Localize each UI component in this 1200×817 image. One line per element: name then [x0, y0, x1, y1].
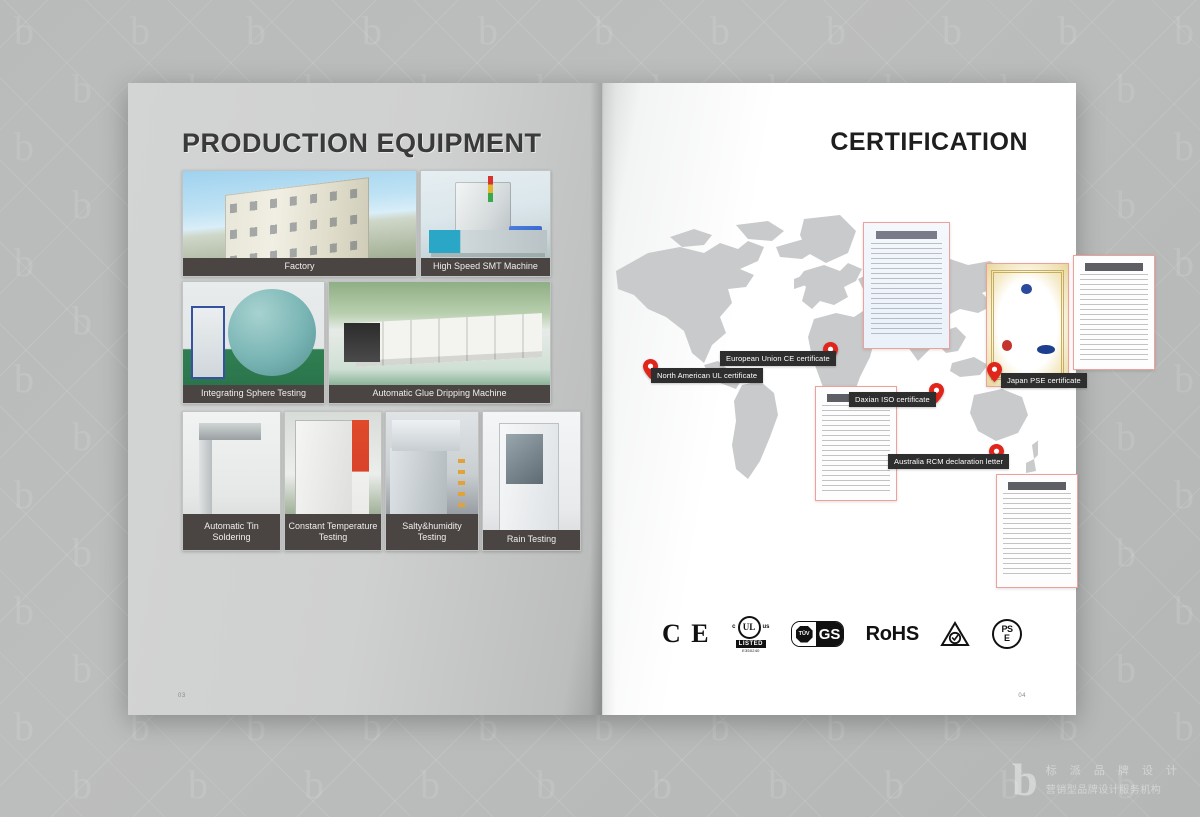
page-number-left: 03 [178, 693, 186, 699]
photo-factory: Factory [182, 170, 417, 277]
photo-tin-soldering: Automatic Tin Soldering [182, 411, 281, 551]
cert-doc-rcm-heading [1008, 482, 1066, 490]
photo-rain-testing-caption: Rain Testing [483, 530, 580, 550]
photo-rain-testing: Rain Testing [482, 411, 581, 551]
pin-japan-pse[interactable] [987, 362, 1002, 382]
photo-constant-temperature-caption: Constant Temperature Testing [285, 514, 381, 550]
rcm-mark-icon [940, 621, 970, 647]
cert-doc-ce-body-lines [871, 243, 942, 338]
salty-humidity-knobs [458, 459, 465, 517]
cert-doc-rcm-body-lines [1003, 493, 1070, 578]
photo-glue-dripping: Automatic Glue Dripping Machine [328, 281, 551, 404]
gs-cell: GS [816, 622, 843, 646]
watermark-line-1: 标 派 品 牌 设 计 [1046, 762, 1182, 778]
tuv-octagon: TÜV [796, 626, 813, 643]
watermark-line-2: 营销型品牌设计服务机构 [1046, 781, 1182, 796]
cert-doc-ul-body-lines [822, 405, 889, 491]
photo-tin-soldering-caption: Automatic Tin Soldering [183, 514, 280, 550]
ul-mark-left-letter: c [732, 624, 735, 630]
cert-doc-ce-heading [876, 231, 937, 240]
pin-label-daxian-iso: Daxian ISO certificate [849, 392, 936, 407]
brochure-spread: PRODUCTION EQUIPMENT Factory High Speed … [128, 83, 1076, 715]
pin-label-australia-rcm: Australia RCM declaration letter [888, 454, 1009, 469]
photo-factory-caption: Factory [183, 258, 416, 276]
cert-doc-pse [1073, 255, 1155, 370]
tuv-cell: TÜV [792, 622, 816, 646]
cert-doc-pse-heading [1085, 263, 1143, 271]
tuv-gs-mark-icon: TÜV GS [791, 621, 844, 647]
photo-glue-dripping-caption: Automatic Glue Dripping Machine [329, 385, 550, 403]
smt-blue-tray [509, 226, 543, 241]
cert-doc-pse-body-lines [1080, 274, 1147, 360]
ul-mark-listed-band: LISTED [736, 640, 766, 648]
photo-integrating-sphere: Integrating Sphere Testing [182, 281, 325, 404]
watermark-text-block: 标 派 品 牌 设 计 营销型品牌设计服务机构 [1046, 762, 1182, 796]
page-title-production-equipment: PRODUCTION EQUIPMENT [182, 128, 542, 159]
page-number-right: 04 [1018, 693, 1026, 699]
watermark: b 标 派 品 牌 设 计 营销型品牌设计服务机构 [1012, 760, 1182, 799]
photo-smt: High Speed SMT Machine [420, 170, 551, 277]
ul-mark-right-letter: us [763, 624, 770, 630]
cert-doc-rcm [996, 474, 1078, 588]
smt-signal-tower [488, 176, 493, 202]
pin-label-japan-pse: Japan PSE certificate [1001, 373, 1087, 388]
backdrop: b b PRODUCTION EQUIPMENT Factory High Sp… [0, 0, 1200, 817]
ul-mark-icon: c UL us LISTED E350240 [732, 616, 769, 653]
page-title-certification: CERTIFICATION [830, 128, 1028, 157]
pin-label-north-american-ul: North American UL certificate [651, 368, 763, 383]
iso-seal-red [1002, 340, 1013, 351]
ce-mark-icon: C E [662, 619, 711, 649]
photo-smt-caption: High Speed SMT Machine [421, 258, 550, 276]
rohs-mark-icon: RoHS [866, 623, 919, 646]
iso-seal-cnas [1037, 345, 1055, 355]
cert-doc-ce [863, 222, 950, 349]
world-map [608, 213, 1038, 553]
certification-logo-row: C E c UL us LISTED E350240 [662, 611, 1022, 657]
ul-mark-file-number: E350240 [742, 649, 759, 653]
photo-salty-humidity-caption: Salty&humidity Testing [386, 514, 478, 550]
pin-label-european-union-ce: European Union CE certificate [720, 351, 836, 366]
pse-mark-bottom: E [1004, 634, 1010, 643]
left-page: PRODUCTION EQUIPMENT Factory High Speed … [128, 83, 602, 715]
watermark-logo-mark: b [1012, 760, 1038, 799]
photo-integrating-sphere-caption: Integrating Sphere Testing [183, 385, 324, 403]
ul-mark-circle: UL [738, 616, 761, 639]
iso-seal-blue [1021, 284, 1032, 295]
photo-constant-temperature: Constant Temperature Testing [284, 411, 382, 551]
right-page: CERTIFICATION [602, 83, 1076, 715]
pse-mark-icon: PS E [992, 619, 1022, 649]
photo-salty-humidity: Salty&humidity Testing [385, 411, 479, 551]
